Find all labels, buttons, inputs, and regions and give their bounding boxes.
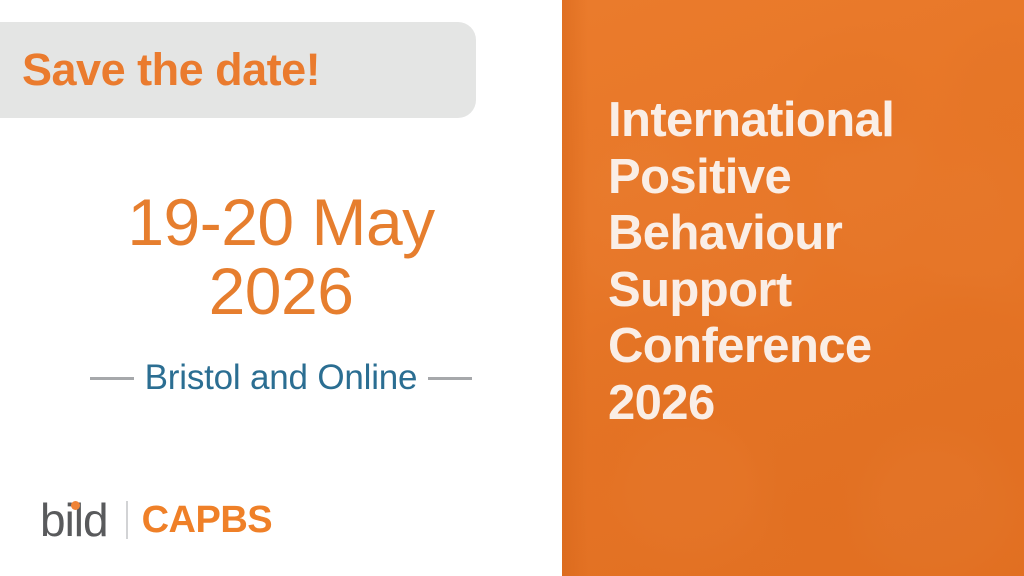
right-title-panel: International Positive Behaviour Support… [562,0,1024,576]
save-the-date-label: Save the date! [22,44,320,96]
bild-wordmark: bild [40,497,108,543]
conference-title-line-3: Behaviour [608,205,1008,262]
event-date-line-1: 19-20 May [0,188,562,257]
conference-title-line-5: Conference [608,318,1008,375]
brand-logo-lockup: bild CAPBS [40,495,272,545]
event-date-block: 19-20 May 2026 [0,188,562,325]
conference-title-line-2: Positive [608,149,1008,206]
conference-title-line-1: International [608,92,1008,149]
conference-title-line-4: Support [608,262,1008,319]
event-location-label: Bristol and Online [145,358,418,398]
event-date-line-2: 2026 [0,257,562,326]
conference-title-line-6: 2026 [608,375,1008,432]
conference-title: International Positive Behaviour Support… [608,92,1008,432]
left-rule-icon [90,377,134,380]
logo-divider-icon [126,501,128,539]
bild-dot-icon [71,501,80,510]
save-the-date-banner: Save the date! [0,22,476,118]
left-info-panel: Save the date! 19-20 May 2026 Bristol an… [0,0,562,576]
right-rule-icon [428,377,472,380]
save-the-date-poster: Save the date! 19-20 May 2026 Bristol an… [0,0,1024,576]
event-location-row: Bristol and Online [0,358,562,398]
capbs-wordmark: CAPBS [142,501,273,539]
